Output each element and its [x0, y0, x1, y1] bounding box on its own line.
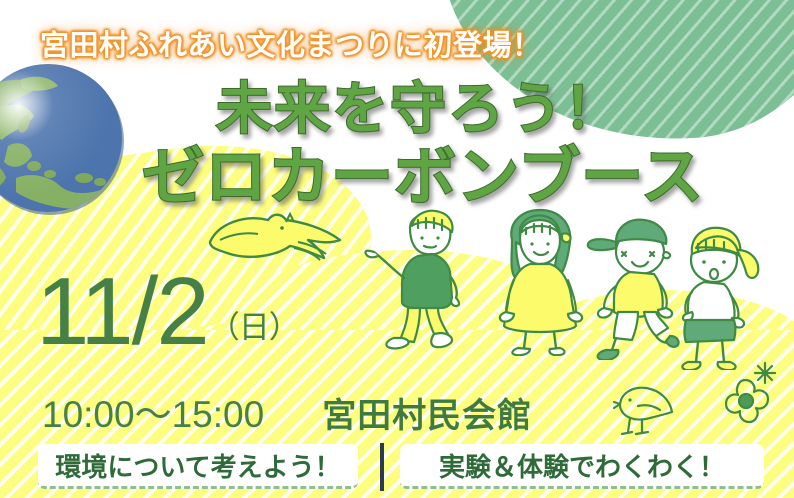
event-date: 11/2 （日） — [36, 268, 299, 356]
girl-with-ponytail-icon — [668, 222, 772, 370]
tagline-divider — [380, 443, 384, 491]
earth-globe-asia-icon — [0, 58, 132, 218]
event-day-of-week: （日） — [208, 302, 299, 356]
banner-headline: 宮田村ふれあい文化まつりに初登場！ — [40, 22, 542, 64]
page-title-line-2: ゼロカーボンブース — [142, 126, 704, 216]
tagline-box-left: 環境について考えよう！ — [38, 444, 358, 489]
event-time: 10:00〜15:00 — [42, 384, 264, 438]
child-pointing-icon — [364, 206, 482, 354]
tagline-box-right: 実験＆体験でわくわく！ — [400, 444, 764, 489]
tagline-left-text: 環境について考えよう！ — [45, 447, 350, 484]
event-venue: 宮田村民会館 — [322, 388, 532, 437]
event-details: 10:00〜15:00 宮田村民会館 — [42, 384, 532, 438]
girl-in-dress-icon — [486, 206, 596, 356]
event-date-number: 11/2 — [36, 268, 208, 356]
small-bird-icon — [606, 378, 678, 440]
sparkle-icon — [752, 360, 778, 386]
tagline-right-text: 実験＆体験でわくわく！ — [429, 447, 735, 484]
event-poster: 宮田村ふれあい文化まつりに初登場！ 未来を守ろう！ ゼロカーボンブース 11/2… — [0, 0, 794, 498]
